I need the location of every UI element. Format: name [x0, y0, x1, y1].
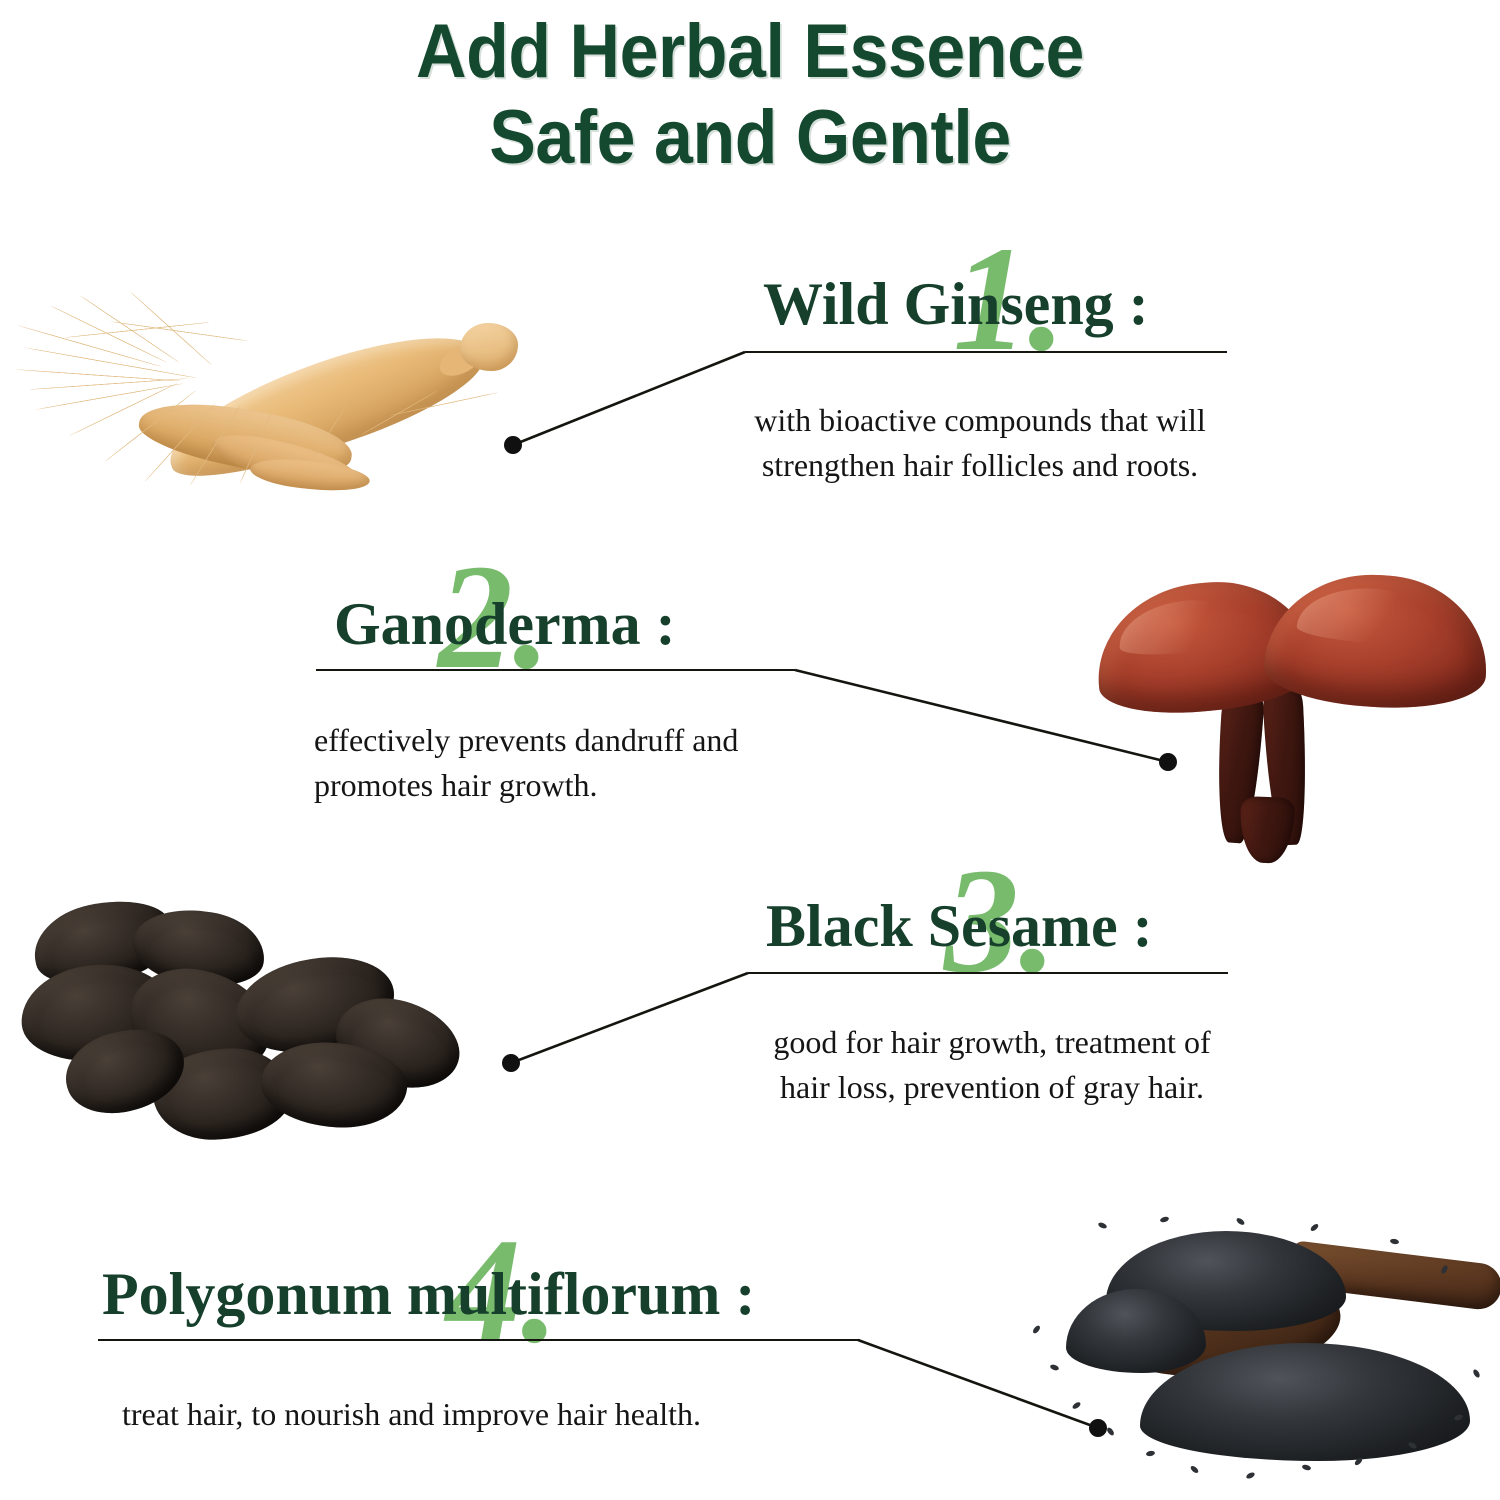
sesame-seed — [1189, 1465, 1199, 1475]
heading-rule-2 — [316, 669, 795, 671]
infographic-page: Add Herbal Essence Safe and Gentle — [0, 0, 1500, 1500]
polygonum-slices-image — [5, 885, 495, 1170]
ingredient-block-black-sesame: 3. Black Sesame : — [748, 878, 1153, 978]
ingredient-desc-2: effectively prevents dandruff and promot… — [314, 718, 874, 809]
ingredient-heading-1: Wild Ginseng : — [745, 256, 1149, 356]
ingredient-desc-3: good for hair growth, treatment of hair … — [722, 1020, 1262, 1111]
ginseng-crown — [460, 323, 518, 371]
sesame-seed — [1049, 1364, 1059, 1372]
connector-dot-3 — [502, 1054, 520, 1072]
ginseng-rootlet — [18, 325, 162, 367]
desc-line: strengthen hair follicles and roots. — [715, 443, 1245, 488]
ingredient-block-polygonum-multiflorum: 4. Polygonum multiflorum : — [98, 1246, 755, 1346]
reishi-cap-right — [1262, 567, 1493, 714]
sesame-seed — [1245, 1471, 1255, 1480]
heading-group-2: 2. Ganoderma : — [316, 576, 676, 676]
sesame-seed — [1390, 1238, 1400, 1245]
title-line-1: Add Herbal Essence — [60, 14, 1440, 90]
ingredient-heading-3: Black Sesame : — [748, 878, 1153, 978]
title-line-2: Safe and Gentle — [60, 100, 1440, 176]
sesame-seed — [1032, 1324, 1042, 1334]
reishi-stem-base — [1239, 796, 1295, 864]
heading-rule-1 — [745, 351, 1227, 353]
ingredient-block-wild-ginseng: 1. Wild Ginseng : — [745, 256, 1149, 356]
desc-line: good for hair growth, treatment of — [722, 1020, 1262, 1065]
ingredient-desc-4: treat hair, to nourish and improve hair … — [122, 1392, 882, 1437]
reishi-gloss — [1116, 596, 1240, 658]
heading-group-4: 4. Polygonum multiflorum : — [98, 1246, 755, 1346]
heading-rule-4 — [98, 1339, 860, 1341]
ingredient-heading-4: Polygonum multiflorum : — [98, 1246, 755, 1346]
ingredient-desc-1: with bioactive compounds that will stren… — [715, 398, 1245, 489]
desc-line: hair loss, prevention of gray hair. — [722, 1065, 1262, 1110]
ingredient-block-ganoderma: 2. Ganoderma : — [316, 576, 676, 676]
heading-rule-3 — [748, 972, 1228, 974]
black-sesame-seeds-image — [1010, 1215, 1500, 1500]
desc-line: with bioactive compounds that will — [715, 398, 1245, 443]
sesame-seed — [1235, 1217, 1245, 1226]
sesame-seed — [1097, 1221, 1107, 1229]
heading-group-1: 1. Wild Ginseng : — [745, 256, 1149, 356]
page-title: Add Herbal Essence Safe and Gentle — [0, 14, 1500, 176]
sesame-seed — [1071, 1401, 1081, 1410]
sesame-seed — [1309, 1223, 1319, 1233]
heading-group-3: 3. Black Sesame : — [748, 878, 1153, 978]
sesame-seed — [1159, 1216, 1169, 1224]
sesame-seed — [1301, 1464, 1311, 1471]
sesame-seed — [1472, 1368, 1481, 1378]
wild-ginseng-root-image — [10, 285, 550, 550]
ingredient-heading-2: Ganoderma : — [316, 576, 676, 676]
desc-line: effectively prevents dandruff and — [314, 718, 874, 763]
sesame-seed — [1106, 1426, 1115, 1436]
reishi-gloss — [1296, 583, 1427, 646]
desc-line: promotes hair growth. — [314, 763, 874, 808]
sesame-seed — [1146, 1450, 1156, 1457]
desc-line: treat hair, to nourish and improve hair … — [122, 1392, 882, 1437]
ganoderma-mushroom-image — [1090, 565, 1490, 865]
